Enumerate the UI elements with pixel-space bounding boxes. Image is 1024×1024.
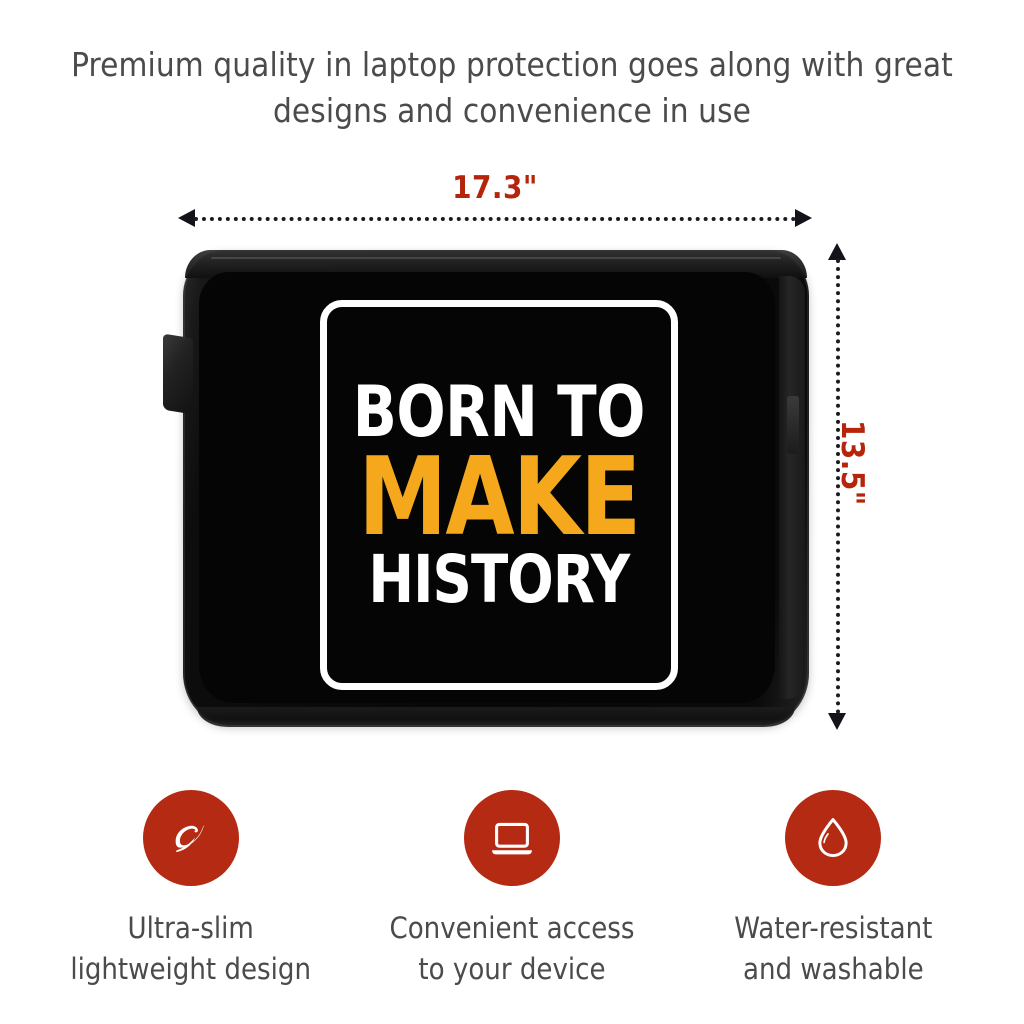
artwork-text: BORN TO MAKE HISTORY xyxy=(320,300,678,690)
water-drop-icon xyxy=(785,790,881,886)
feature-item-water-resistant: Water-resistant and washable xyxy=(673,790,994,990)
feature-caption: Convenient access to your device xyxy=(389,908,634,990)
dashed-line xyxy=(194,217,796,221)
feature-caption: Water-resistant and washable xyxy=(734,908,932,990)
arrow-up-icon xyxy=(828,243,846,260)
page-headline: Premium quality in laptop protection goe… xyxy=(50,42,974,134)
artwork-line-2: MAKE xyxy=(358,448,639,547)
laptop-sleeve-product: BORN TO MAKE HISTORY xyxy=(183,250,809,725)
width-dimension-label: 17.3" xyxy=(178,170,812,206)
arrow-right-icon xyxy=(795,209,812,227)
feather-icon xyxy=(143,790,239,886)
feature-caption: Ultra-slim lightweight design xyxy=(70,908,311,990)
feature-list: Ultra-slim lightweight design Convenient… xyxy=(30,790,994,990)
arrow-left-icon xyxy=(178,209,195,227)
sleeve-bottom-edge xyxy=(197,707,795,727)
laptop-icon xyxy=(464,790,560,886)
feature-item-ultra-slim: Ultra-slim lightweight design xyxy=(30,790,351,990)
width-dimension-line xyxy=(178,207,812,229)
zipper-pull-icon xyxy=(163,334,193,415)
arrow-down-icon xyxy=(828,713,846,730)
dashed-line xyxy=(836,259,840,714)
feature-item-convenient-access: Convenient access to your device xyxy=(351,790,672,990)
height-dimension-line xyxy=(826,243,848,730)
sleeve-side-zipper xyxy=(779,276,805,699)
artwork-line-3: HISTORY xyxy=(369,550,630,611)
